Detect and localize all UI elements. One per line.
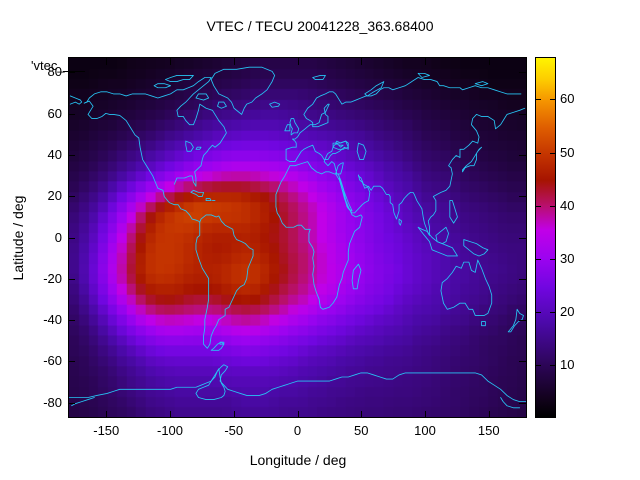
colorbar-tick-mark (550, 153, 556, 154)
heatmap-plot-area[interactable] (68, 57, 527, 418)
colorbar-tick-label: 10 (560, 358, 574, 371)
y-tick-label: -80 (18, 396, 62, 409)
colorbar-tick-mark (550, 312, 556, 313)
y-tick-label: -60 (18, 354, 62, 367)
coastline-path (191, 190, 204, 196)
y-tick-mark (519, 361, 526, 362)
y-tick-mark (519, 196, 526, 197)
coastline-path (270, 102, 280, 107)
coastline-path (357, 143, 366, 159)
coastline-path (69, 365, 526, 402)
coastline-path (352, 264, 361, 289)
x-tick-label: 0 (294, 424, 301, 437)
coastline-path (464, 240, 488, 256)
coastline-path (365, 82, 384, 96)
coastline-path (84, 101, 200, 222)
x-tick-mark (361, 411, 362, 418)
x-tick-mark (170, 411, 171, 418)
y-tick-mark (68, 361, 75, 362)
y-tick-mark (68, 196, 75, 197)
coastline-path (196, 94, 209, 100)
coastline-path (286, 77, 521, 149)
coastline-path (501, 398, 520, 408)
colorbar-tick-mark (535, 259, 541, 260)
coastline-path (290, 119, 299, 135)
colorbar-tick-label: 40 (560, 199, 574, 212)
colorbar (535, 57, 556, 418)
coastline-overlay (69, 58, 526, 417)
y-tick-mark (68, 320, 75, 321)
x-axis: -150-100-50050100150 (0, 424, 640, 444)
colorbar-axis: 102030405060 (560, 0, 606, 480)
x-tick-label: -150 (93, 424, 119, 437)
colorbar-tick-mark (550, 99, 556, 100)
coastline-path (436, 227, 449, 243)
coastline-path (441, 260, 492, 315)
x-tick-label: 50 (354, 424, 368, 437)
colorbar-tick-mark (535, 206, 541, 207)
y-tick-mark (68, 155, 75, 156)
x-tick-mark (425, 411, 426, 418)
colorbar-tick-mark (550, 365, 556, 366)
coastline-path (285, 125, 290, 131)
x-tick-mark (234, 411, 235, 418)
coastline-path (211, 342, 224, 350)
coastline-path (313, 75, 326, 79)
colorbar-tick-mark (550, 206, 556, 207)
coastline-path (70, 96, 81, 104)
x-tick-mark (361, 58, 362, 65)
x-tick-mark (425, 58, 426, 65)
x-tick-label: -50 (224, 424, 243, 437)
coastline-path (450, 201, 458, 224)
y-tick-mark (68, 72, 75, 73)
y-tick-label: 60 (18, 107, 62, 120)
y-tick-label: 80 (18, 65, 62, 78)
coastline-path (399, 219, 402, 225)
y-tick-mark (519, 238, 526, 239)
coastline-path (463, 147, 482, 172)
y-tick-mark (519, 155, 526, 156)
x-axis-title: Longitude / deg (0, 452, 596, 468)
x-tick-mark (489, 411, 490, 418)
x-tick-mark (298, 411, 299, 418)
y-tick-mark (519, 72, 526, 73)
coastline-path (339, 178, 352, 211)
page-title: VTEC / TECU 20041228_363.68400 (0, 18, 640, 34)
y-tick-mark (68, 238, 75, 239)
colorbar-tick-mark (535, 153, 541, 154)
x-tick-mark (489, 58, 490, 65)
x-tick-mark (106, 58, 107, 65)
coastline-path (186, 141, 194, 151)
y-axis-title: Latitude / deg (10, 158, 26, 318)
coastline-path (418, 73, 429, 77)
coastline-path (475, 82, 488, 86)
colorbar-tick-mark (535, 312, 541, 313)
colorbar-tick-label: 30 (560, 252, 574, 265)
coastline-path (72, 398, 95, 406)
coastline-path (286, 108, 525, 235)
coastline-path (276, 162, 362, 310)
x-tick-mark (234, 58, 235, 65)
y-tick-mark (68, 279, 75, 280)
x-tick-label: 100 (414, 424, 436, 437)
x-tick-label: 150 (478, 424, 500, 437)
coastline-path (211, 67, 274, 114)
colorbar-tick-mark (535, 99, 541, 100)
y-tick-mark (519, 320, 526, 321)
colorbar-tick-mark (535, 365, 541, 366)
x-tick-label: -100 (157, 424, 183, 437)
y-tick-mark (519, 403, 526, 404)
coastline-path (482, 322, 486, 326)
colorbar-tick-label: 20 (560, 305, 574, 318)
y-tick-mark (68, 114, 75, 115)
y-tick-mark (519, 279, 526, 280)
y-tick-mark (519, 114, 526, 115)
x-tick-mark (298, 58, 299, 65)
coastline-path (196, 369, 225, 400)
coastline-path (218, 102, 227, 108)
coastline-path (165, 75, 193, 81)
colorbar-tick-label: 50 (560, 146, 574, 159)
x-tick-mark (170, 58, 171, 65)
colorbar-tick-mark (550, 259, 556, 260)
coastline-path (196, 147, 201, 149)
colorbar-tick-label: 60 (560, 92, 574, 105)
y-tick-mark (68, 403, 75, 404)
coastline-path (196, 215, 253, 348)
coastline-path (206, 199, 211, 201)
x-tick-mark (106, 411, 107, 418)
coastline-path (154, 84, 171, 88)
